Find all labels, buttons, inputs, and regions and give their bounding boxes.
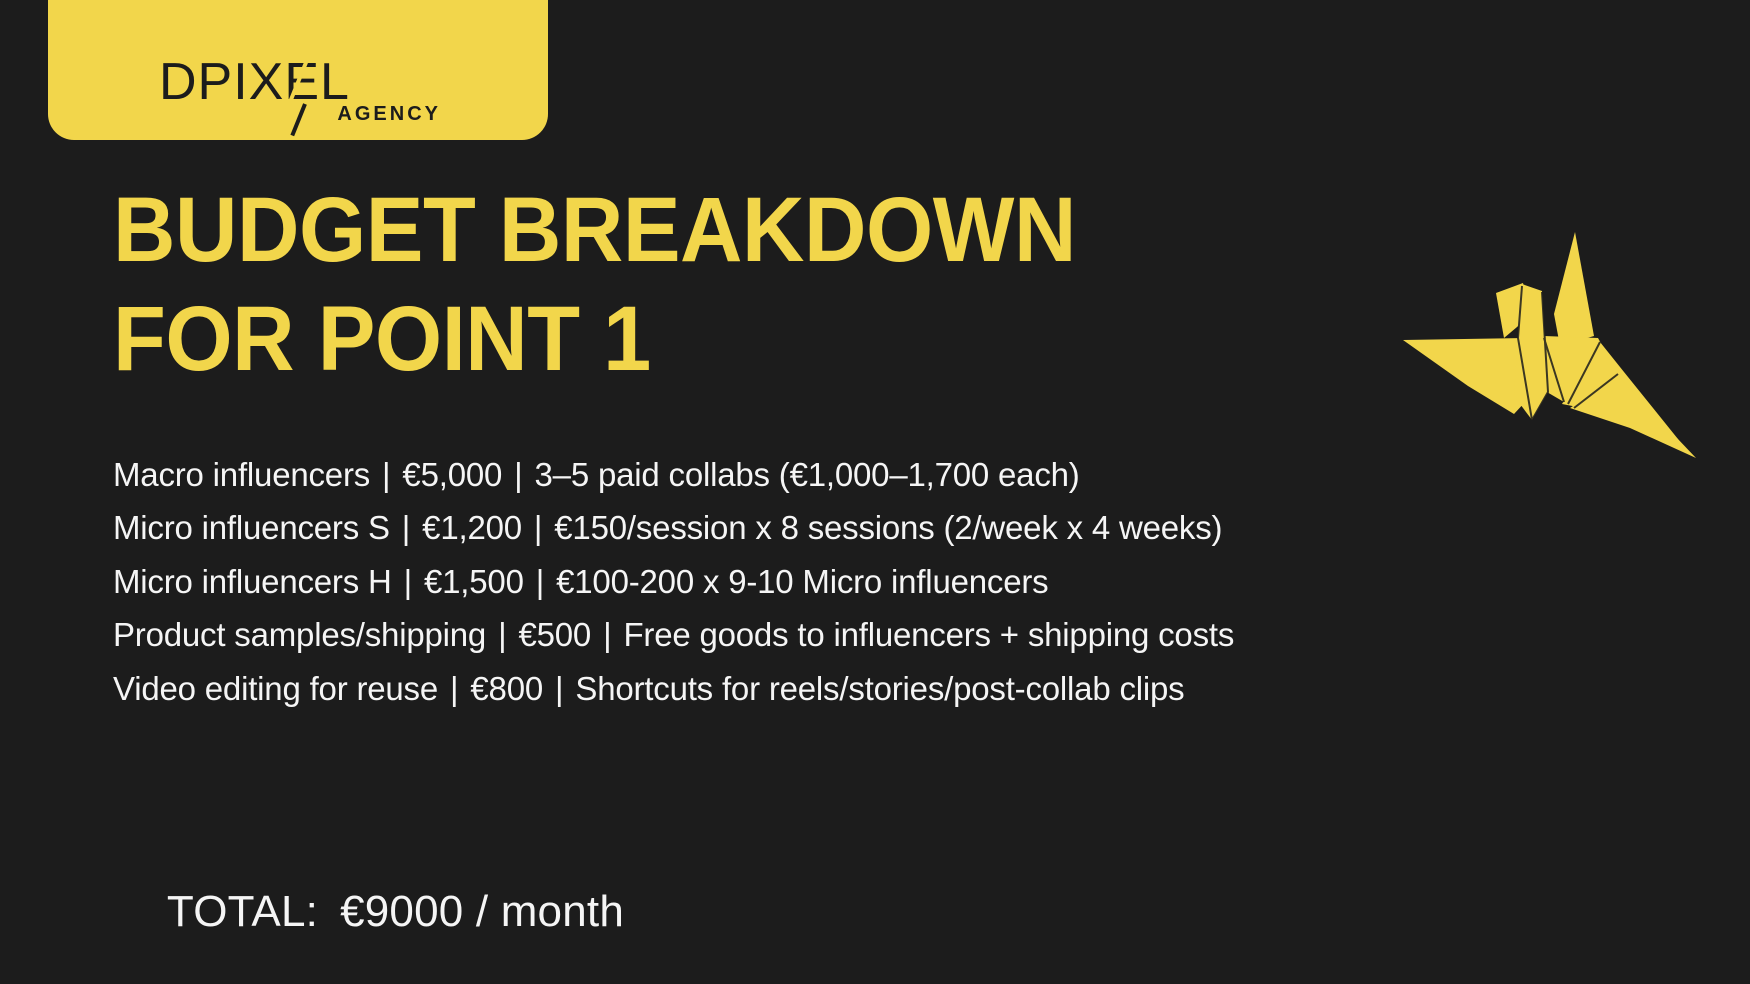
row-amount: €500: [518, 608, 591, 661]
row-separator: |: [486, 608, 518, 661]
table-row: Micro influencers H | €1,500 | €100-200 …: [113, 555, 1553, 608]
total-line: TOTAL:€9000 / month: [118, 840, 624, 984]
row-separator: |: [502, 448, 534, 501]
row-note: €150/session x 8 sessions (2/week x 4 we…: [554, 501, 1222, 554]
logo-lockup: DPIXEL AGENCY: [153, 58, 443, 126]
row-item-label: Video editing for reuse: [113, 662, 438, 715]
row-separator: |: [392, 555, 424, 608]
row-amount: €5,000: [402, 448, 502, 501]
budget-table: Macro influencers | €5,000 | 3–5 paid co…: [113, 448, 1553, 715]
brand-logo-badge: DPIXEL AGENCY: [48, 0, 548, 140]
row-amount: €1,200: [422, 501, 522, 554]
table-row: Video editing for reuse | €800 | Shortcu…: [113, 662, 1553, 715]
total-value: €9000 / month: [318, 887, 624, 936]
row-separator: |: [543, 662, 575, 715]
row-amount: €800: [470, 662, 543, 715]
row-separator: |: [591, 608, 623, 661]
row-separator: |: [438, 662, 470, 715]
row-note: Shortcuts for reels/stories/post-collab …: [575, 662, 1184, 715]
row-separator: |: [370, 448, 402, 501]
table-row: Product samples/shipping | €500 | Free g…: [113, 608, 1553, 661]
row-separator: |: [522, 501, 554, 554]
row-item-label: Micro influencers S: [113, 501, 390, 554]
page-title: BUDGET BREAKDOWN FOR POINT 1: [113, 176, 1076, 393]
budget-breakdown-slide: DPIXEL AGENCY BUDGET BREAKDOWN FOR POINT…: [0, 0, 1750, 984]
row-item-label: Macro influencers: [113, 448, 370, 501]
table-row: Macro influencers | €5,000 | 3–5 paid co…: [113, 448, 1553, 501]
table-row: Micro influencers S | €1,200 | €150/sess…: [113, 501, 1553, 554]
row-note: Free goods to influencers + shipping cos…: [623, 608, 1234, 661]
row-separator: |: [390, 501, 422, 554]
row-amount: €1,500: [424, 555, 524, 608]
row-note: €100-200 x 9-10 Micro influencers: [556, 555, 1048, 608]
total-label: TOTAL:: [167, 887, 318, 936]
row-item-label: Micro influencers H: [113, 555, 392, 608]
row-note: 3–5 paid collabs (€1,000–1,700 each): [535, 448, 1080, 501]
row-separator: |: [524, 555, 556, 608]
row-item-label: Product samples/shipping: [113, 608, 486, 661]
